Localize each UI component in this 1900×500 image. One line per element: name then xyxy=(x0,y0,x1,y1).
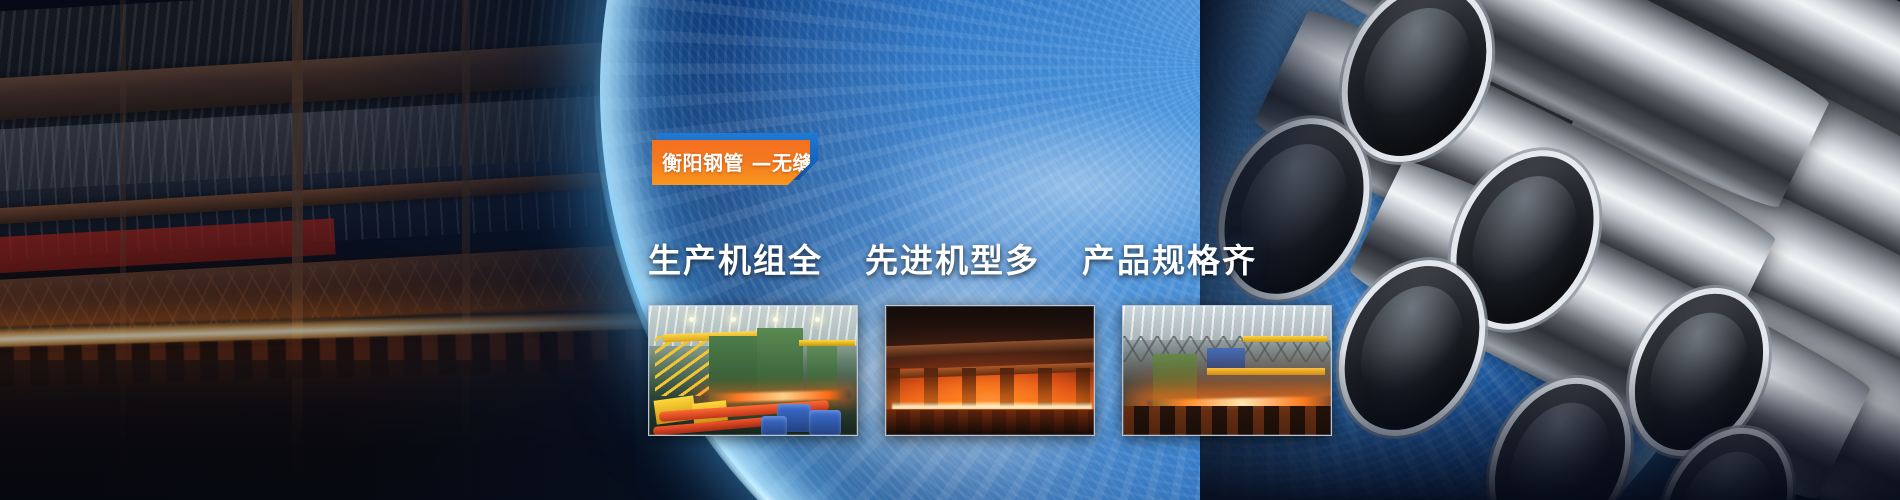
brand-badge-orange-plate: 衡阳钢管 —无缝钢管 xyxy=(652,140,810,185)
thumbnail-hot-billet[interactable] xyxy=(885,305,1095,436)
slogan-item-2: 先进机型多 xyxy=(865,244,1040,277)
thumbnail-image-1 xyxy=(649,306,857,435)
banner-content: 衡阳钢管 —无缝钢管 生产机组全 先进机型多 产品规格齐 xyxy=(0,0,1900,500)
thumbnail-strip xyxy=(648,305,1332,436)
slogan-item-3: 产品规格齐 xyxy=(1082,244,1257,277)
thumbnail-image-3 xyxy=(1123,306,1331,435)
slogan-item-1: 生产机组全 xyxy=(648,244,823,277)
slogan-row: 生产机组全 先进机型多 产品规格齐 xyxy=(648,244,1257,277)
thumbnail-factory-hall[interactable] xyxy=(1122,305,1332,436)
brand-badge: 衡阳钢管 —无缝钢管 xyxy=(652,133,817,185)
thumbnail-rolling-mill-line[interactable] xyxy=(648,305,858,436)
promo-banner: 衡阳钢管 —无缝钢管 生产机组全 先进机型多 产品规格齐 xyxy=(0,0,1900,500)
brand-badge-label: 衡阳钢管 —无缝钢管 xyxy=(652,153,854,173)
thumbnail-image-2 xyxy=(886,306,1094,435)
